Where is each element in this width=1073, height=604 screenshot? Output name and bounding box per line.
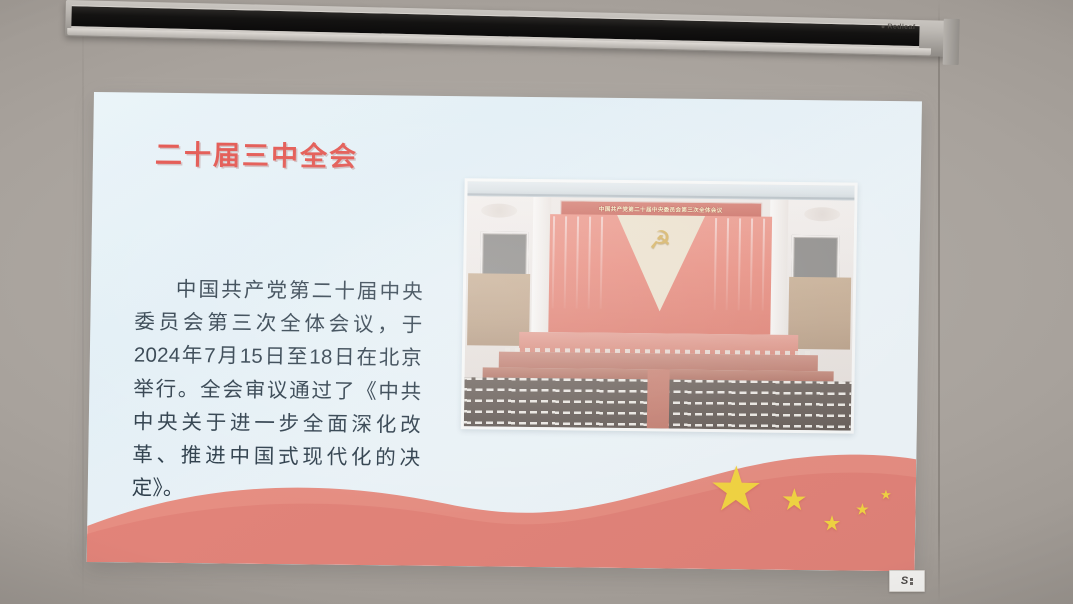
- wall-seam-right: [938, 0, 940, 604]
- slide-title: 二十届三中全会: [155, 133, 359, 174]
- slide-photo-frame: 中国共产党第二十届中央委员会第三次全体会议 ☭: [461, 178, 858, 433]
- hall-door-left: [480, 231, 529, 278]
- slide-decoration-wave: ★ ★ ★ ★ ★: [87, 430, 917, 571]
- slide-photo: 中国共产党第二十届中央委员会第三次全体会议 ☭: [464, 181, 855, 430]
- housing-mount-bracket: [943, 19, 960, 65]
- flag-star-3: ★: [822, 513, 841, 534]
- projected-slide[interactable]: 二十届三中全会 中国共产党第二十届中央委员会第三次全体会议，于2024年7月15…: [87, 92, 922, 571]
- hall-medallion-left: [481, 203, 517, 217]
- hall-medallion-right: [804, 207, 840, 221]
- hall-center-aisle: [646, 369, 669, 428]
- hammer-and-sickle-icon: ☭: [645, 227, 675, 253]
- brand-label: Redleaf: [887, 23, 915, 31]
- sticker-glyph: S: [901, 575, 908, 587]
- hall-banner-text: 中国共产党第二十届中央委员会第三次全体会议: [599, 205, 723, 214]
- projector-screen-brand-logo: Redleaf: [881, 23, 915, 31]
- wall-seam-left: [82, 0, 84, 604]
- wall-label-sticker: S: [889, 570, 925, 592]
- hall-door-right: [791, 235, 840, 282]
- flag-star-5: ★: [880, 488, 892, 501]
- classroom-scene: Redleaf 二十届三中全会 中国共产党第二十届中央委员会第三次全体会议，于2…: [0, 0, 1073, 604]
- flag-star-4: ★: [855, 503, 870, 519]
- flag-star-large: ★: [708, 459, 765, 522]
- slide-canvas: 二十届三中全会 中国共产党第二十届中央委员会第三次全体会议，于2024年7月15…: [87, 92, 922, 571]
- flag-star-2: ★: [781, 486, 808, 516]
- sticker-dots-icon: [910, 578, 913, 585]
- brand-dot-icon: [881, 25, 884, 28]
